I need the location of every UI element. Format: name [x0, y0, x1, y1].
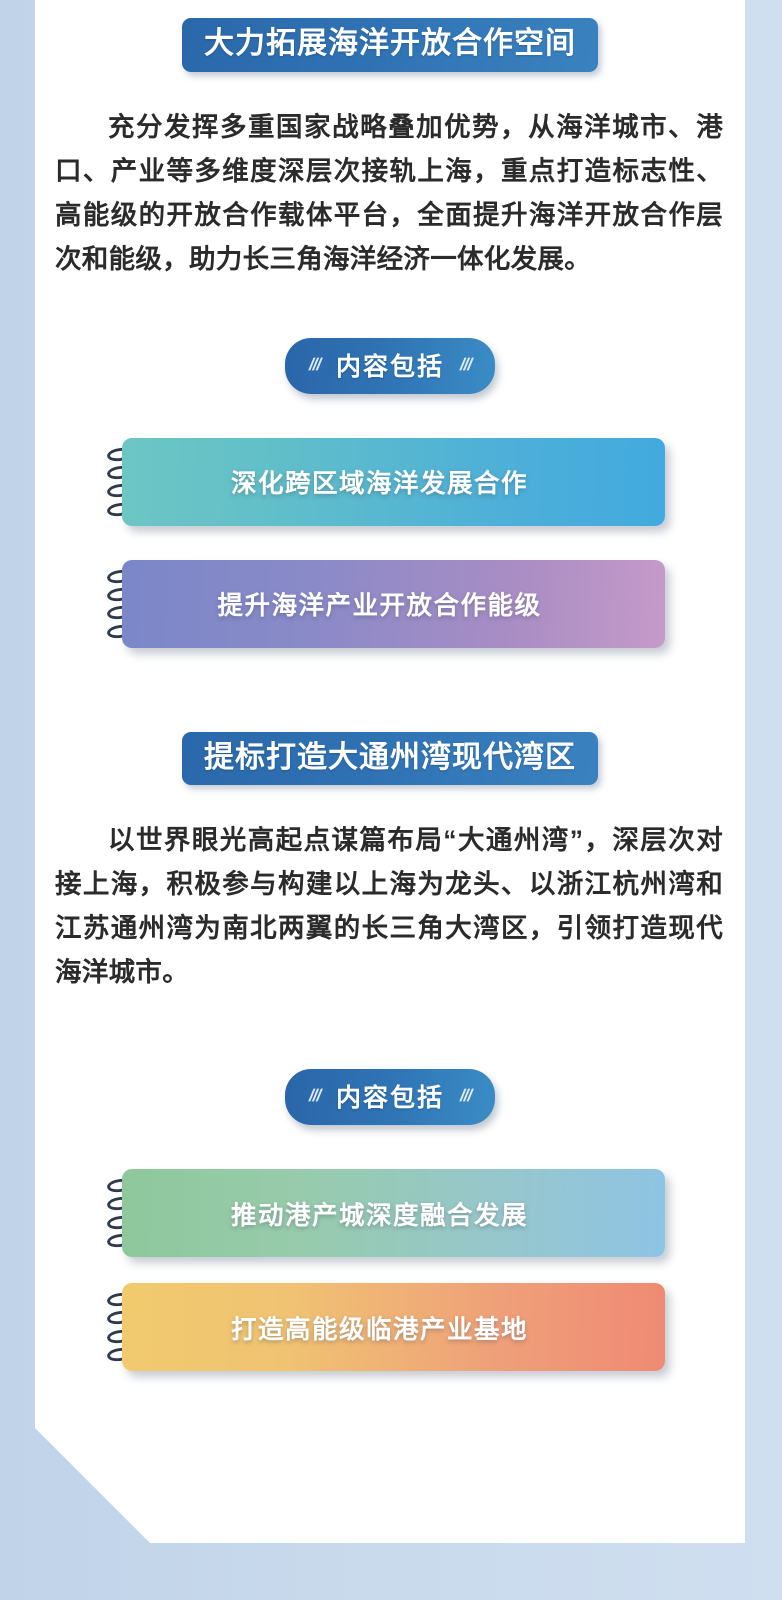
section-1-card-1[interactable]: 深化跨区域海洋发展合作	[122, 438, 665, 526]
list-item[interactable]: 推动港产城深度融合发展	[35, 1169, 745, 1257]
section-2-subheading-text: 内容包括	[336, 1078, 444, 1114]
section-1-card-2[interactable]: 提升海洋产业开放合作能级	[122, 560, 665, 648]
section-1-heading-banner: 大力拓展海洋开放合作空间	[35, 18, 745, 72]
content-column: 大力拓展海洋开放合作空间 充分发挥多重国家战略叠加优势，从海洋城市、港口、产业等…	[35, 0, 745, 1600]
slash-left-icon: ///	[308, 1086, 320, 1106]
slash-right-icon: ///	[460, 355, 472, 375]
section-2-card-1-label: 推动港产城深度融合发展	[231, 1195, 528, 1232]
section-2-card-2[interactable]: 打造高能级临港产业基地	[122, 1283, 665, 1371]
list-item[interactable]: 深化跨区域海洋发展合作	[35, 438, 745, 526]
list-item[interactable]: 提升海洋产业开放合作能级	[35, 560, 745, 648]
section-1-subheading-text: 内容包括	[336, 347, 444, 383]
pill-box: /// 内容包括 ///	[285, 1069, 495, 1125]
banner-box: 大力拓展海洋开放合作空间	[182, 18, 598, 72]
section-2-card-2-label: 打造高能级临港产业基地	[231, 1309, 528, 1346]
section-1-card-1-label: 深化跨区域海洋发展合作	[231, 463, 528, 500]
section-1-subheading: /// 内容包括 ///	[35, 338, 745, 394]
pill-box: /// 内容包括 ///	[285, 338, 495, 394]
section-1-heading-text: 大力拓展海洋开放合作空间	[204, 27, 576, 61]
slash-right-icon: ///	[460, 1086, 472, 1106]
section-2-subheading: /// 内容包括 ///	[35, 1069, 745, 1125]
section-2-heading-text: 提标打造大通州湾现代湾区	[204, 741, 576, 775]
section-2-heading-banner: 提标打造大通州湾现代湾区	[35, 732, 745, 786]
banner-box: 提标打造大通州湾现代湾区	[182, 732, 598, 786]
section-2-card-1[interactable]: 推动港产城深度融合发展	[122, 1169, 665, 1257]
section-2-paragraph: 以世界眼光高起点谋篇布局“大通州湾”，深层次对接上海，积极参与构建以上海为龙头、…	[35, 819, 745, 995]
slash-left-icon: ///	[308, 355, 320, 375]
list-item[interactable]: 打造高能级临港产业基地	[35, 1283, 745, 1371]
section-1-paragraph: 充分发挥多重国家战略叠加优势，从海洋城市、港口、产业等多维度深层次接轨上海，重点…	[35, 106, 745, 282]
section-1-card-2-label: 提升海洋产业开放合作能级	[217, 585, 541, 622]
infographic-page: 大力拓展海洋开放合作空间 充分发挥多重国家战略叠加优势，从海洋城市、港口、产业等…	[0, 0, 782, 1600]
